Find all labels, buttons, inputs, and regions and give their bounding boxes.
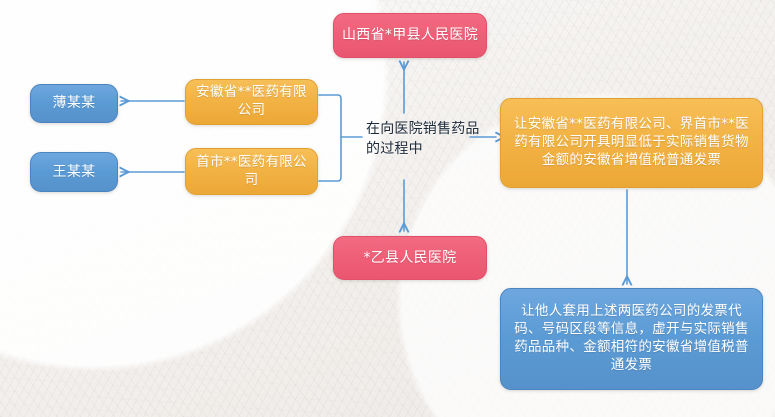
node-invoice-below-value[interactable]: 让安徽省**医药有限公司、界首市**医药有限公司开具明显低于实际销售货物金额的安… xyxy=(500,98,763,188)
edge-companies-bracket xyxy=(319,95,341,181)
node-hospital-top[interactable]: 山西省*甲县人民医院 xyxy=(333,13,487,58)
node-hospital-bottom[interactable]: *乙县人民医院 xyxy=(333,236,487,280)
node-invoice-fake[interactable]: 让他人套用上述两医药公司的发票代码、号码区段等信息，虚开与实际销售药品品种、金额… xyxy=(500,288,763,390)
node-person-wang[interactable]: 王某某 xyxy=(30,152,118,192)
node-company-anhui[interactable]: 安徽省**医药有限公司 xyxy=(185,79,318,125)
node-company-shoushi[interactable]: 首市**医药有限公司 xyxy=(185,148,318,195)
diagram-canvas: 薄某某 王某某 安徽省**医药有限公司 首市**医药有限公司 在向医院销售药品的… xyxy=(0,0,775,417)
label-center-process: 在向医院销售药品的过程中 xyxy=(366,120,484,160)
node-person-bao[interactable]: 薄某某 xyxy=(30,84,118,123)
